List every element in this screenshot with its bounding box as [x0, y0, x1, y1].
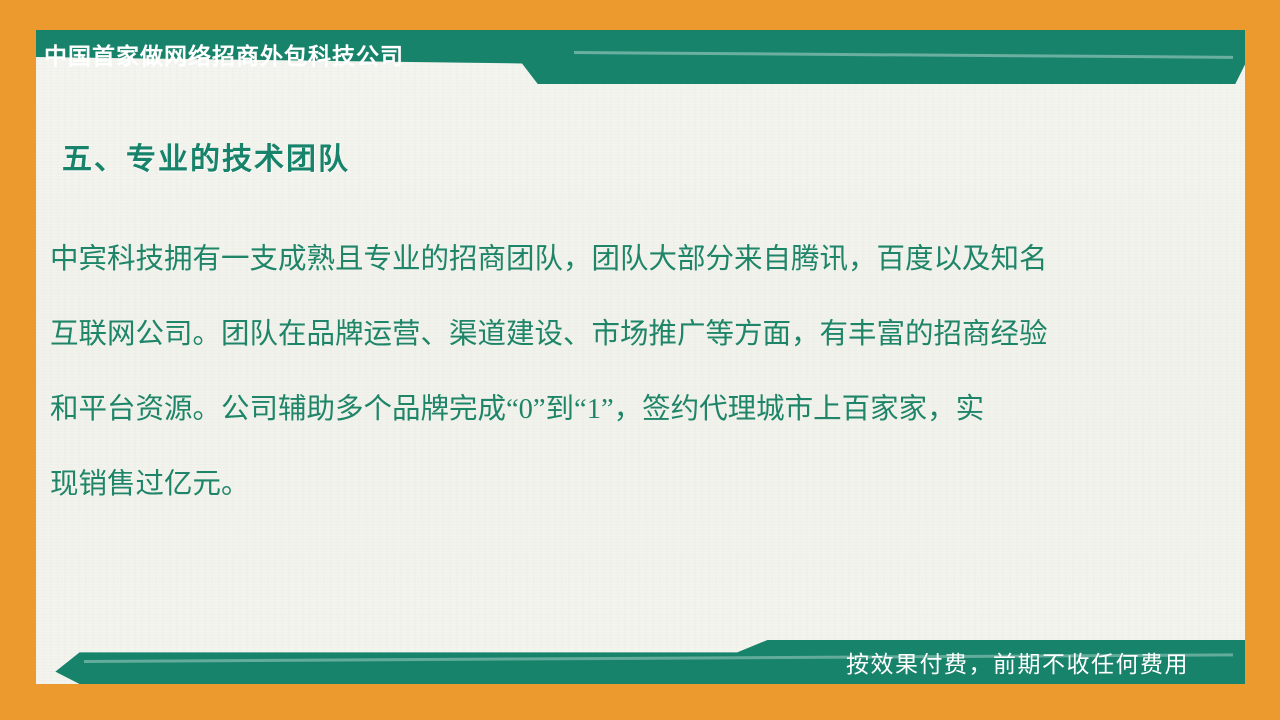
body-line: 互联网公司。团队在品牌运营、渠道建设、市场推广等方面，有丰富的招商经验 — [50, 297, 1184, 372]
body-line: 和平台资源。公司辅助多个品牌完成“0”到“1”，签约代理城市上百家家，实 — [50, 372, 1184, 447]
footer-tagline: 按效果付费，前期不收任何费用 — [846, 644, 1189, 680]
header-title: 中国首家做网络招商外包科技公司 — [44, 32, 404, 76]
body-paragraph-block: 中宾科技拥有一支成熟且专业的招商团队，团队大部分来自腾讯，百度以及知名 互联网公… — [50, 222, 1184, 522]
body-line: 中宾科技拥有一支成熟且专业的招商团队，团队大部分来自腾讯，百度以及知名 — [50, 222, 1184, 297]
presentation-slide: 中国首家做网络招商外包科技公司 五、专业的技术团队 中宾科技拥有一支成熟且专业的… — [0, 0, 1280, 720]
section-heading: 五、专业的技术团队 — [62, 134, 350, 178]
body-line: 现销售过亿元。 — [50, 447, 1184, 522]
